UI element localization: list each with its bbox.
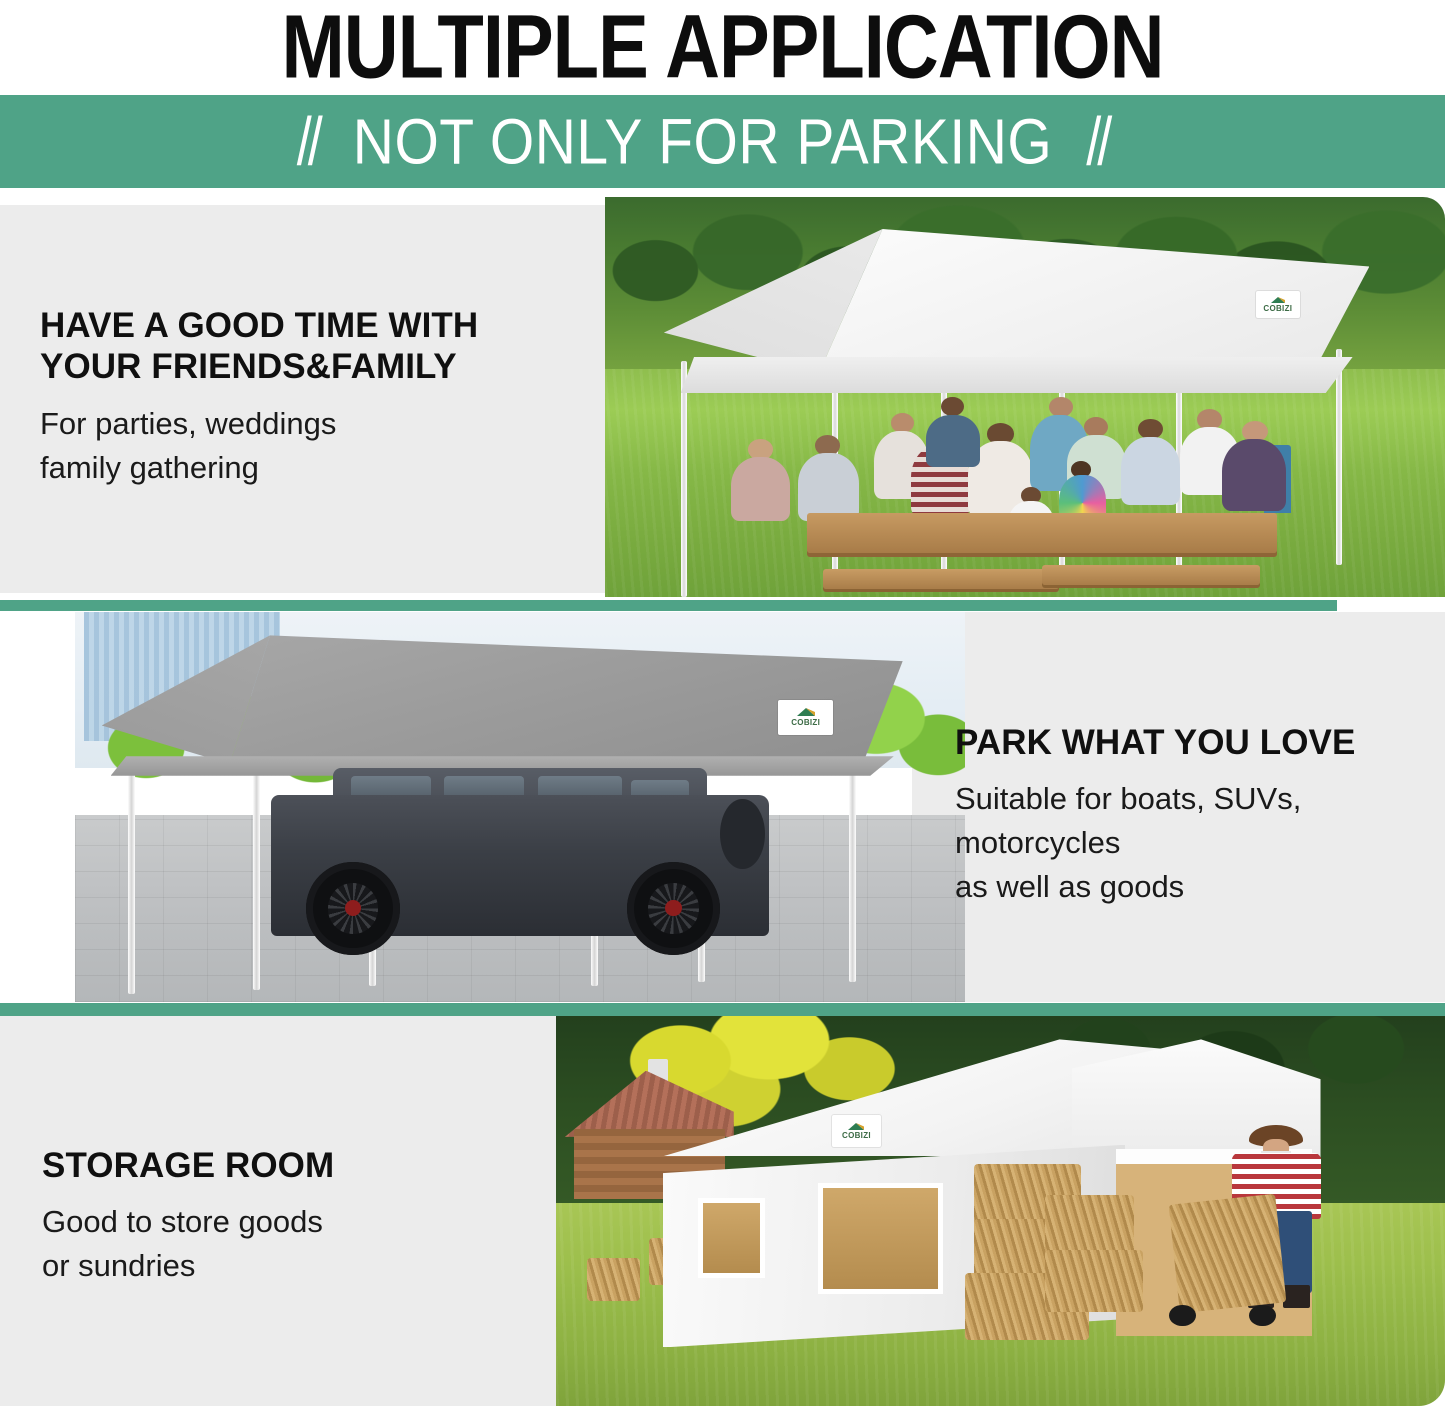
section-1-body-line-2: family gathering [40,446,580,490]
section-1-heading-line-2: YOUR FRIENDS&FAMILY [40,346,580,387]
section-2-body-line-1: Suitable for boats, SUVs, [955,777,1425,821]
brand-logo-text: COBIZI [842,1132,871,1140]
section-1-heading-line-1: HAVE A GOOD TIME WITH [40,305,580,346]
section-2-body: Suitable for boats, SUVs, motorcycles as… [955,777,1425,909]
section-2-body-line-2: motorcycles [955,821,1425,865]
section-3-heading-line-1: STORAGE ROOM [42,1145,542,1186]
section-3-image: COBIZI [556,1016,1445,1406]
section-2-heading-line-1: PARK WHAT YOU LOVE [955,722,1425,763]
section-2-heading: PARK WHAT YOU LOVE [955,722,1425,763]
section-2-text-block: PARK WHAT YOU LOVE Suitable for boats, S… [955,722,1425,909]
section-2-body-line-3: as well as goods [955,865,1425,909]
header-title-bar: MULTIPLE APPLICATION [0,0,1445,95]
header-subtitle-band: // NOT ONLY FOR PARKING // [0,95,1445,188]
section-2-image: COBIZI [75,612,965,1002]
brand-logo-badge: COBIZI [1256,291,1300,318]
section-1-image: COBIZI [605,197,1445,597]
section-1-text-block: HAVE A GOOD TIME WITH YOUR FRIENDS&FAMIL… [40,305,580,490]
slash-left-icon: // [297,108,319,176]
section-3-text-block: STORAGE ROOM Good to store goods or sund… [42,1145,542,1288]
section-3-body-line-1: Good to store goods [42,1200,542,1244]
section-3-body-line-2: or sundries [42,1244,542,1288]
brand-logo-badge: COBIZI [778,700,833,735]
section-1-heading: HAVE A GOOD TIME WITH YOUR FRIENDS&FAMIL… [40,305,580,388]
section-3-body: Good to store goods or sundries [42,1200,542,1288]
slash-right-icon: // [1086,108,1108,176]
section-2-divider [0,1003,1445,1016]
section-1-body: For parties, weddings family gathering [40,402,580,490]
brand-logo-badge: COBIZI [832,1115,882,1146]
page-title: MULTIPLE APPLICATION [281,3,1163,93]
brand-logo-text: COBIZI [791,719,820,727]
brand-logo-text: COBIZI [1263,305,1292,313]
section-1-divider [0,600,1337,611]
page-subtitle: NOT ONLY FOR PARKING [353,105,1052,179]
section-1-body-line-1: For parties, weddings [40,402,580,446]
section-3-heading: STORAGE ROOM [42,1145,542,1186]
